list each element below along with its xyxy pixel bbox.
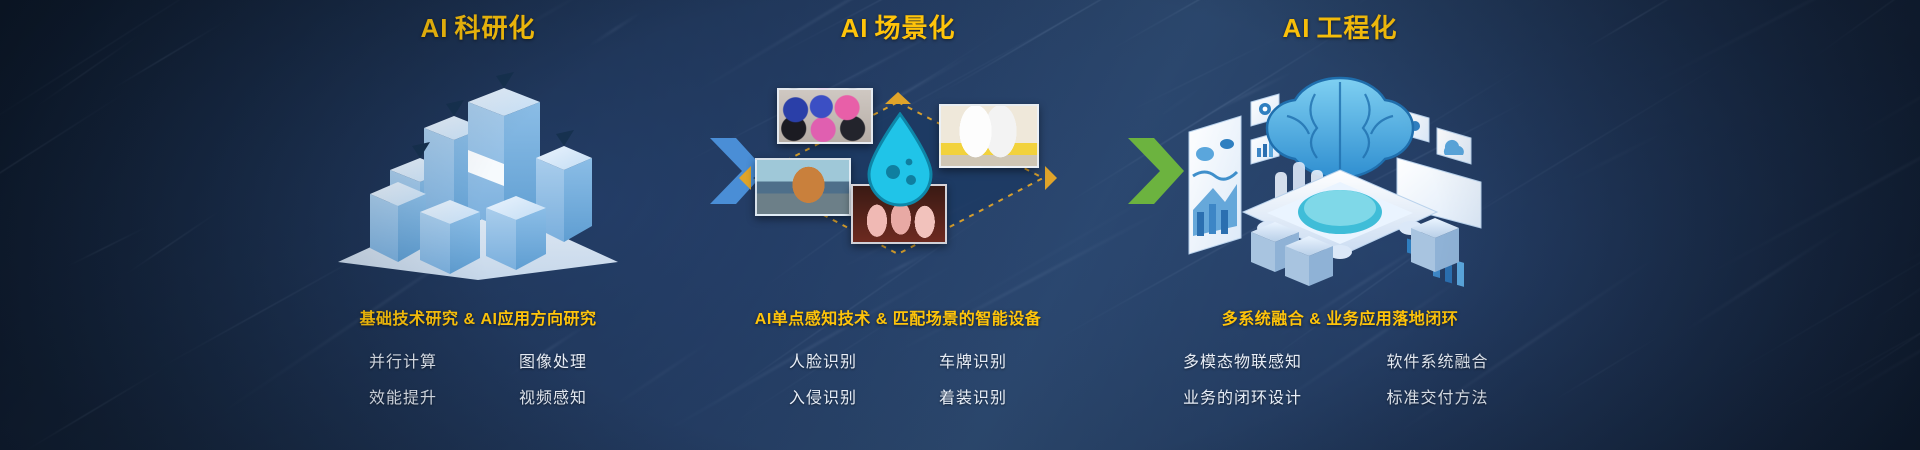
- brain-icon: [1267, 78, 1413, 178]
- stage-title-scenario-latin: AI: [840, 13, 868, 43]
- stage-column-scenario: AI场景化: [668, 0, 1128, 450]
- keyword-row: 业务的闭环设计 标准交付方法: [1145, 384, 1535, 408]
- stage-title-research-cn: 科研化: [454, 13, 535, 43]
- keyword-list-engineering: 多模态物联感知 软件系统融合 业务的闭环设计 标准交付方法: [1090, 348, 1590, 408]
- illustration-brain-platform: [1090, 60, 1590, 290]
- stage-title-scenario: AI场景化: [668, 8, 1128, 45]
- keyword-item: 人脸识别: [748, 348, 898, 372]
- stage-title-research: AI科研化: [248, 8, 708, 45]
- illustration-server-city: [248, 60, 708, 290]
- brain-platform-icon: [1175, 60, 1505, 290]
- keyword-item: 视频感知: [478, 384, 628, 408]
- server-city-icon: [328, 66, 628, 286]
- keyword-row: 入侵识别 着装识别: [748, 384, 1048, 408]
- stage-caption-scenario: AI单点感知技术 & 匹配场景的智能设备: [668, 305, 1128, 329]
- water-drop-icon: [865, 112, 935, 208]
- keyword-item: 软件系统融合: [1340, 348, 1535, 372]
- stage-title-scenario-cn: 场景化: [874, 13, 955, 43]
- photo-work-gloves: [939, 104, 1039, 168]
- stage-column-research: AI科研化: [248, 0, 708, 450]
- keyword-list-scenario: 人脸识别 车牌识别 入侵识别 着装识别: [668, 348, 1128, 408]
- photo-safety-helmets: [777, 88, 873, 144]
- illustration-diamond-photo-cluster: [668, 60, 1128, 290]
- keyword-row: 多模态物联感知 软件系统融合: [1145, 348, 1535, 372]
- photo-dog-by-water: [755, 158, 851, 216]
- keyword-row: 并行计算 图像处理: [328, 348, 628, 372]
- stage-title-engineering-latin: AI: [1282, 13, 1310, 43]
- server-rack-right: [1411, 218, 1459, 272]
- stage-title-engineering-cn: 工程化: [1316, 13, 1397, 43]
- keyword-item: 入侵识别: [748, 384, 898, 408]
- keyword-item: 多模态物联感知: [1145, 348, 1340, 372]
- keyword-item: 车牌识别: [898, 348, 1048, 372]
- keyword-item: 着装识别: [898, 384, 1048, 408]
- keyword-row: 人脸识别 车牌识别: [748, 348, 1048, 372]
- stage-caption-engineering: 多系统融合 & 业务应用落地闭环: [1090, 305, 1590, 329]
- stage-column-engineering: AI工程化: [1090, 0, 1590, 450]
- keyword-item: 业务的闭环设计: [1145, 384, 1340, 408]
- ai-capability-banner: AI科研化: [0, 0, 1920, 450]
- stage-caption-research: 基础技术研究 & AI应用方向研究: [248, 305, 708, 329]
- keyword-item: 标准交付方法: [1340, 384, 1535, 408]
- dashboard-panel-left: [1189, 116, 1241, 254]
- floating-card-cloud: [1437, 128, 1471, 164]
- keyword-item: 图像处理: [478, 348, 628, 372]
- keyword-item: 并行计算: [328, 348, 478, 372]
- keyword-row: 效能提升 视频感知: [328, 384, 628, 408]
- server-rack-center: [1285, 236, 1333, 286]
- keyword-list-research: 并行计算 图像处理 效能提升 视频感知: [248, 348, 708, 408]
- stage-title-research-latin: AI: [420, 13, 448, 43]
- keyword-item: 效能提升: [328, 384, 478, 408]
- stage-title-engineering: AI工程化: [1090, 8, 1590, 45]
